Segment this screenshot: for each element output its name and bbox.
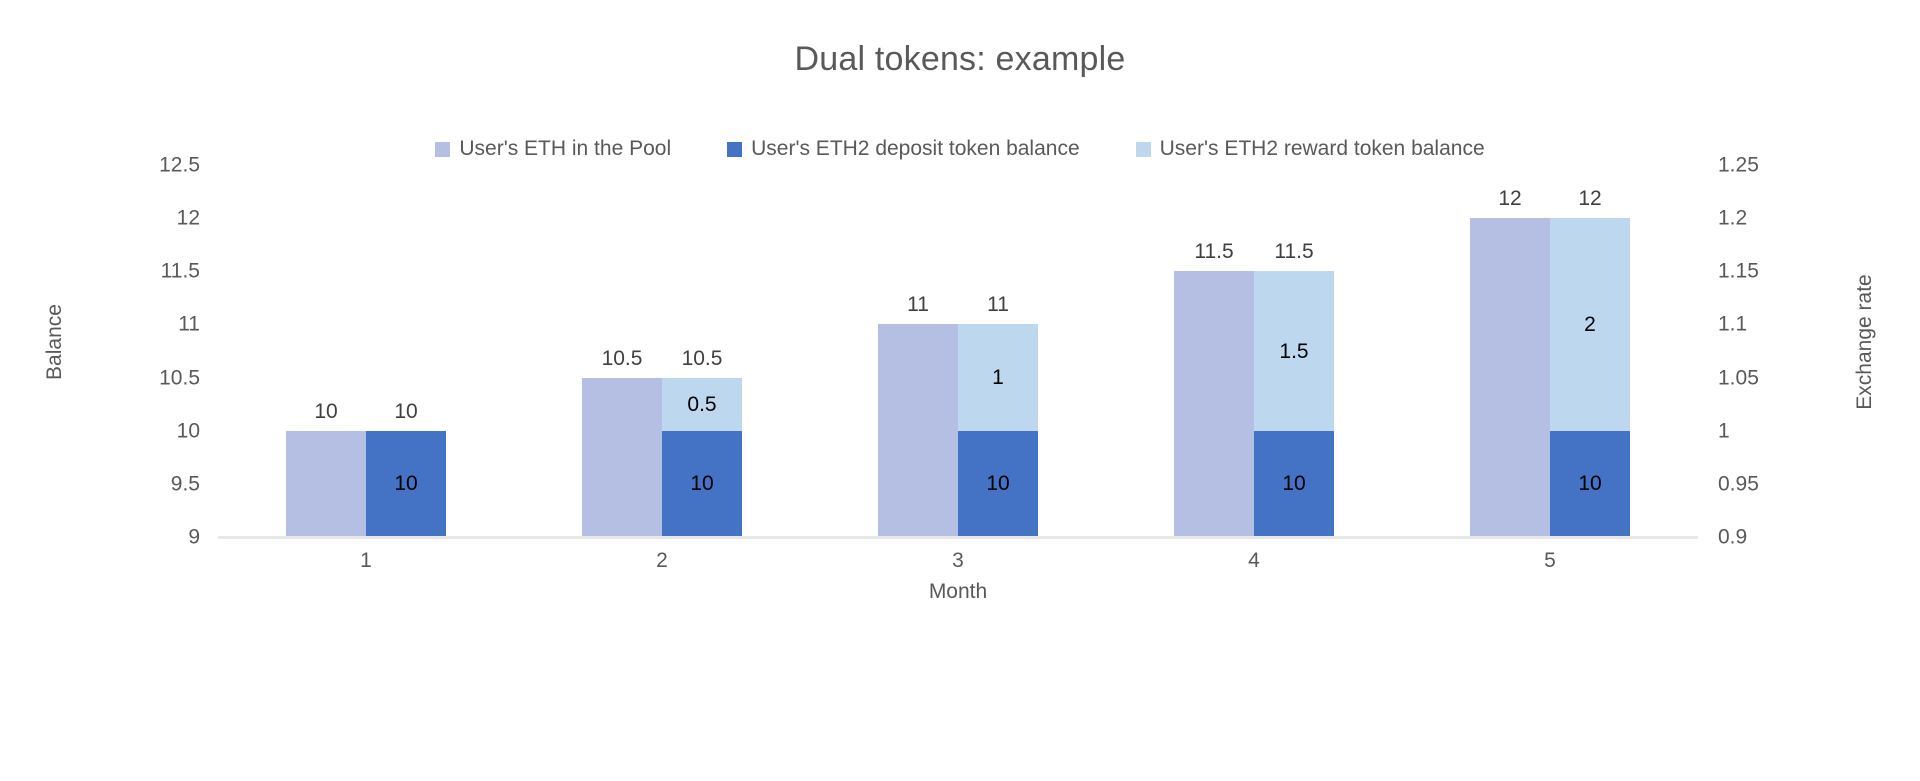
bar-segment-label: 1 xyxy=(992,367,1004,388)
plot-area: 101010110.5100.510.521110111311.5101.511… xyxy=(218,165,1698,537)
chart-title: Dual tokens: example xyxy=(0,40,1920,79)
y-axis-right-tick-label: 1 xyxy=(1718,420,1730,441)
x-axis-tick-label: 4 xyxy=(1106,549,1402,573)
chart-container: Dual tokens: example User's ETH in the P… xyxy=(0,0,1920,781)
legend-swatch-icon xyxy=(727,142,742,157)
bar-segment-reward[interactable]: 1 xyxy=(958,324,1038,430)
bar-group-bars: 11.5101.511.5 xyxy=(1106,165,1402,537)
bar-eth-pool[interactable]: 11 xyxy=(878,165,958,537)
y-axis-right-tick-label: 1.1 xyxy=(1718,314,1747,335)
y-axis-left-tick-label: 9 xyxy=(188,527,200,548)
y-axis-right-tick-label: 1.15 xyxy=(1718,261,1759,282)
legend-item-eth2-deposit[interactable]: User's ETH2 deposit token balance xyxy=(727,137,1080,161)
y-axis-left-tick-label: 9.5 xyxy=(171,473,200,494)
bar-value-label: 10.5 xyxy=(582,348,662,369)
bar-segment-label: 10 xyxy=(1282,473,1305,494)
y-axis-left-tick-label: 11.5 xyxy=(161,261,200,282)
legend-swatch-icon xyxy=(1136,142,1151,157)
bar-eth2-stack[interactable]: 1010 xyxy=(366,165,446,537)
y-axis-right-tick-label: 0.9 xyxy=(1718,527,1747,548)
bar-value-label: 11 xyxy=(878,294,958,315)
x-axis-tick-label: 1 xyxy=(218,549,514,573)
bar-value-label: 12 xyxy=(1550,188,1630,209)
bar-eth2-stack[interactable]: 10212 xyxy=(1550,165,1630,537)
bar-value-label: 11.5 xyxy=(1174,241,1254,262)
bar-group: 1010101 xyxy=(218,165,514,537)
bar-segment-reward[interactable]: 1.5 xyxy=(1254,271,1334,430)
bar-segment-deposit[interactable]: 10 xyxy=(958,431,1038,537)
bar-segment-label: 10 xyxy=(690,473,713,494)
bar-eth2-stack[interactable]: 101.511.5 xyxy=(1254,165,1334,537)
bar-segment-reward[interactable]: 0.5 xyxy=(662,378,742,431)
x-axis-tick-label: 3 xyxy=(810,549,1106,573)
bar-segment-deposit[interactable]: 10 xyxy=(1254,431,1334,537)
chart-legend: User's ETH in the Pool User's ETH2 depos… xyxy=(0,137,1920,161)
bar-group-bars: 1110111 xyxy=(810,165,1106,537)
y-axis-right-tick-label: 0.95 xyxy=(1718,473,1759,494)
bar-segment-reward[interactable]: 2 xyxy=(1550,218,1630,431)
bar-segment-label: 10 xyxy=(986,473,1009,494)
bar-group-bars: 10.5100.510.5 xyxy=(514,165,810,537)
y-axis-right-tick-label: 1.05 xyxy=(1718,367,1759,388)
bar-segment-deposit[interactable]: 10 xyxy=(366,431,446,537)
bar-group: 10.5100.510.52 xyxy=(514,165,810,537)
y-axis-left-tick-label: 12.5 xyxy=(159,155,200,176)
bar-value-label: 10.5 xyxy=(662,348,742,369)
y-axis-right-tick-label: 1.25 xyxy=(1718,155,1759,176)
bar-segment-label: 10 xyxy=(1578,473,1601,494)
legend-item-eth-pool[interactable]: User's ETH in the Pool xyxy=(435,137,671,161)
x-axis-tick-label: 2 xyxy=(514,549,810,573)
bar-segment-deposit[interactable]: 10 xyxy=(1550,431,1630,537)
bar-eth-pool[interactable]: 12 xyxy=(1470,165,1550,537)
bar-value-label: 12 xyxy=(1470,188,1550,209)
bar-group: 12102125 xyxy=(1402,165,1698,537)
bar-eth2-stack[interactable]: 100.510.5 xyxy=(662,165,742,537)
y-axis-left-tick-label: 10 xyxy=(177,420,200,441)
bar-eth-pool[interactable]: 10 xyxy=(286,165,366,537)
legend-item-eth2-reward[interactable]: User's ETH2 reward token balance xyxy=(1136,137,1485,161)
bar-segment-label: 10 xyxy=(394,473,417,494)
bar-segment-deposit[interactable]: 10 xyxy=(662,431,742,537)
bar-segment-label: 2 xyxy=(1584,314,1596,335)
legend-swatch-icon xyxy=(435,142,450,157)
bar-value-label: 10 xyxy=(286,401,366,422)
y-axis-left-tick-label: 10.5 xyxy=(159,367,200,388)
y-axis-right-tick-label: 1.2 xyxy=(1718,208,1747,229)
y-axis-left-tick-label: 12 xyxy=(177,208,200,229)
bar-value-label: 10 xyxy=(366,401,446,422)
bar-group: 11101113 xyxy=(810,165,1106,537)
legend-item-label: User's ETH2 deposit token balance xyxy=(751,137,1080,161)
bar-segment-label: 1.5 xyxy=(1279,341,1308,362)
bar-segment-label: 0.5 xyxy=(687,394,716,415)
bar-eth-pool[interactable]: 10.5 xyxy=(582,165,662,537)
x-axis-title: Month xyxy=(218,580,1698,604)
bar-group: 11.5101.511.54 xyxy=(1106,165,1402,537)
bar-value-label: 11 xyxy=(958,294,1038,315)
legend-item-label: User's ETH2 reward token balance xyxy=(1160,137,1485,161)
x-axis-tick-label: 5 xyxy=(1402,549,1698,573)
y-axis-left-tick-label: 11 xyxy=(178,314,200,335)
y-axis-left-title: Balance xyxy=(43,282,67,402)
legend-item-label: User's ETH in the Pool xyxy=(459,137,671,161)
bar-eth-pool[interactable]: 11.5 xyxy=(1174,165,1254,537)
bar-group-bars: 1210212 xyxy=(1402,165,1698,537)
bar-value-label: 11.5 xyxy=(1254,241,1334,262)
x-axis-baseline xyxy=(218,536,1698,539)
bar-group-bars: 101010 xyxy=(218,165,514,537)
bar-eth2-stack[interactable]: 10111 xyxy=(958,165,1038,537)
y-axis-right-title: Exchange rate xyxy=(1853,272,1877,412)
